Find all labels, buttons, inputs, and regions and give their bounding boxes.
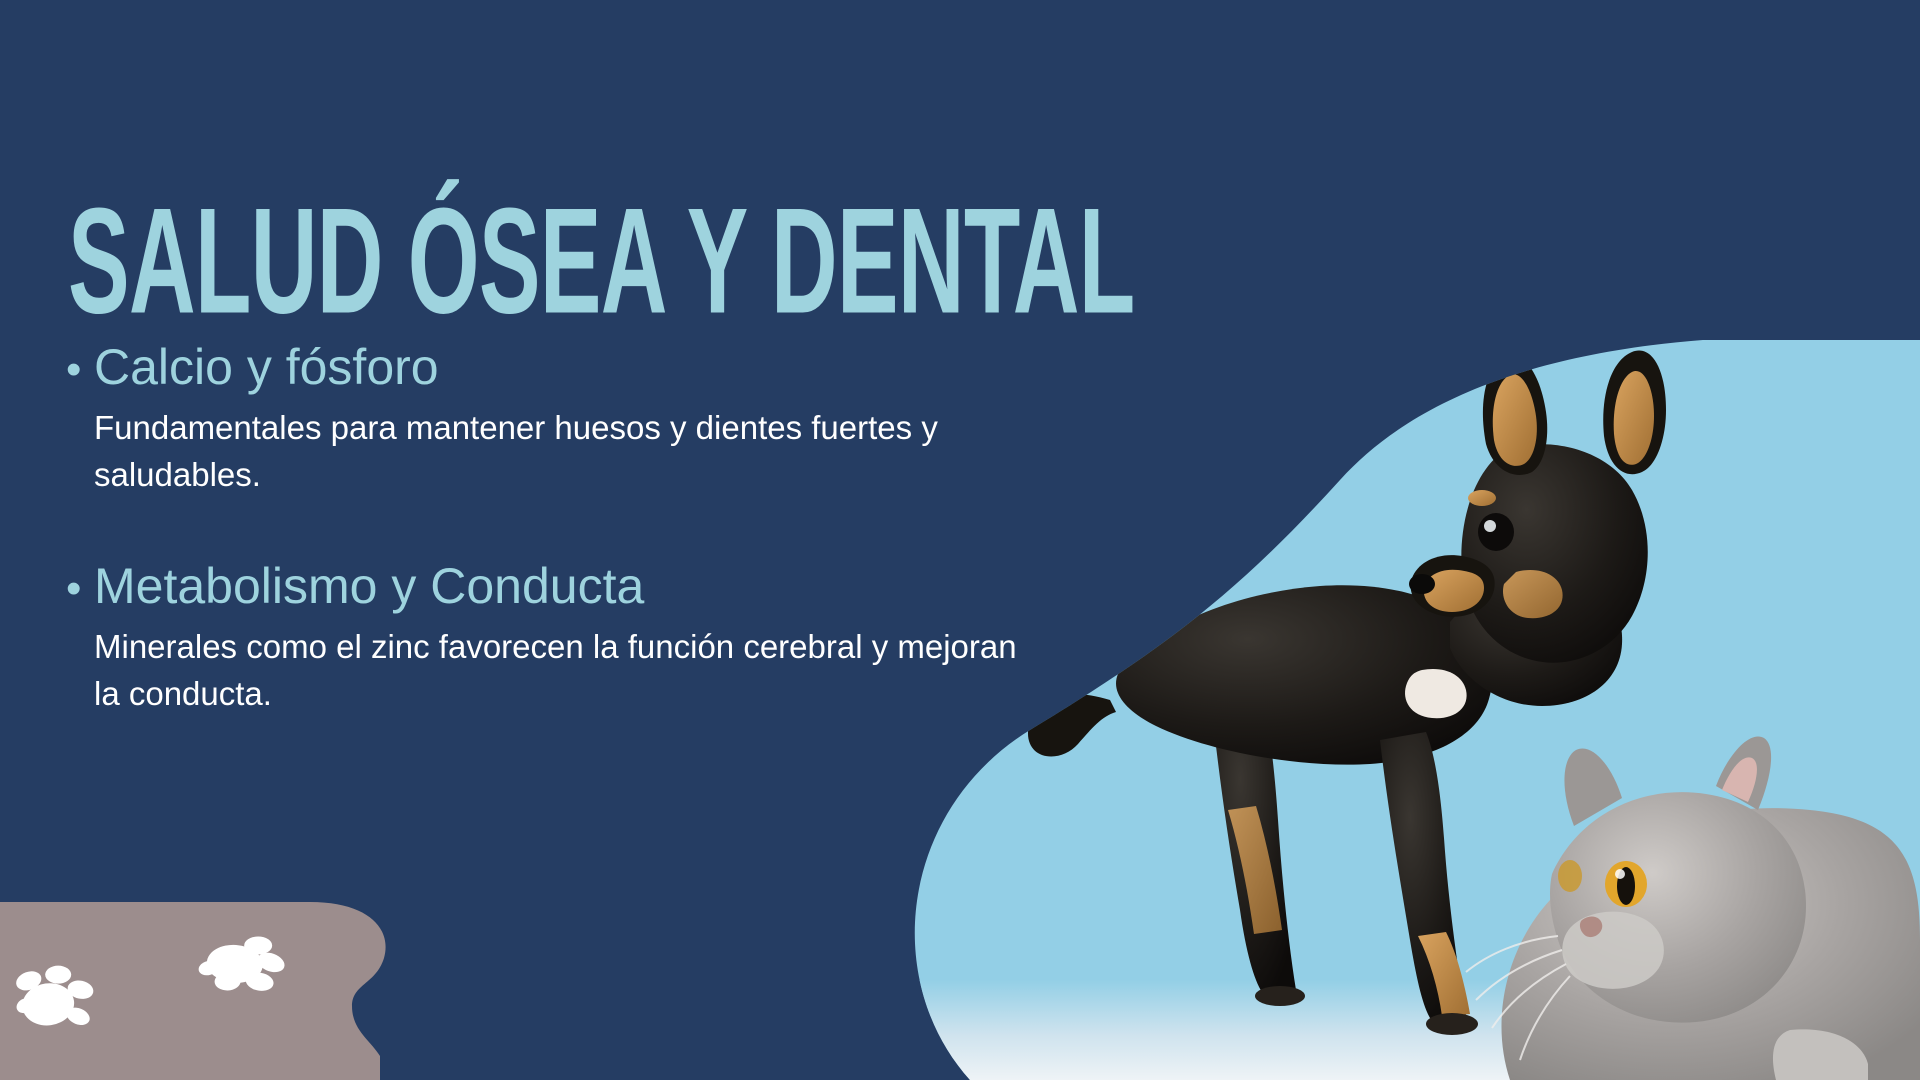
paw-print-decoration-blob bbox=[0, 880, 480, 1080]
bullet-item-metabolismo: • Metabolismo y Conducta Minerales como … bbox=[66, 557, 1066, 718]
bullet-item-calcio: • Calcio y fósforo Fundamentales para ma… bbox=[66, 338, 1066, 499]
bullet-heading-row: • Calcio y fósforo bbox=[66, 338, 1066, 397]
bullet-heading-row: • Metabolismo y Conducta bbox=[66, 557, 1066, 616]
bullet-body-text: Minerales como el zinc favorecen la func… bbox=[94, 624, 1024, 718]
bullet-heading: Calcio y fósforo bbox=[94, 338, 439, 397]
presentation-slide: Salud ósea y dental • Calcio y fósforo F… bbox=[0, 0, 1920, 1080]
bullet-heading: Metabolismo y Conducta bbox=[94, 557, 644, 616]
slide-title: Salud ósea y dental bbox=[68, 186, 1135, 336]
bullet-list: • Calcio y fósforo Fundamentales para ma… bbox=[66, 338, 1066, 717]
bullet-point-icon: • bbox=[66, 567, 94, 611]
bullet-body-text: Fundamentales para mantener huesos y die… bbox=[94, 405, 1024, 499]
bullet-point-icon: • bbox=[66, 348, 94, 392]
